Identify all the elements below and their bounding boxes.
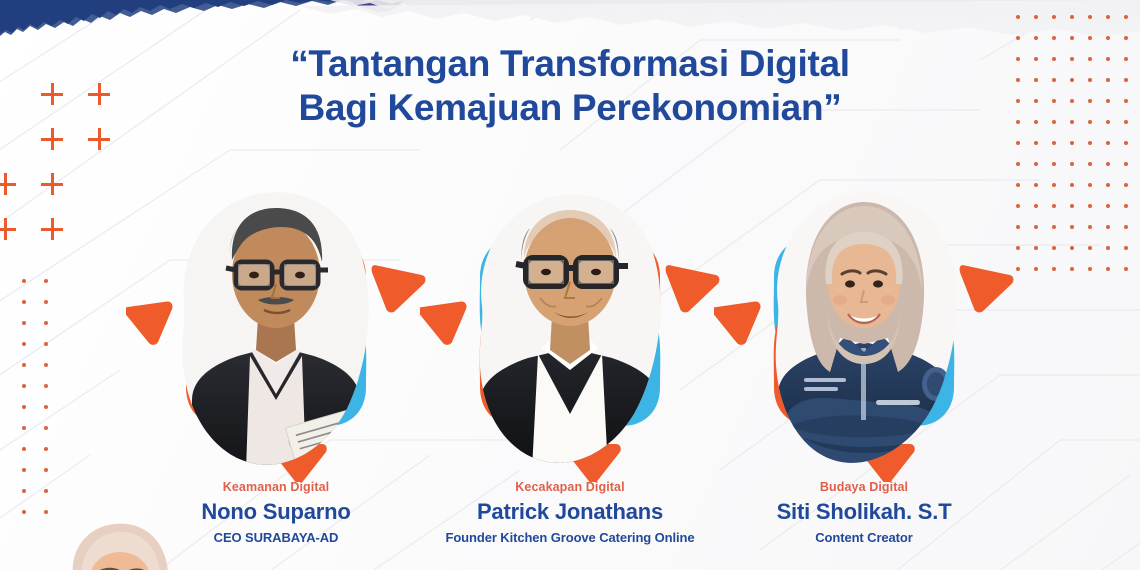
speaker-caption: Keamanan Digital Nono Suparno CEO SURABA… xyxy=(126,480,426,545)
speaker-role: Content Creator xyxy=(714,530,1014,545)
speaker-name: Nono Suparno xyxy=(126,499,426,525)
speaker-badge xyxy=(420,182,720,482)
page-title: “Tantangan Transformasi Digital Bagi Kem… xyxy=(0,42,1140,130)
title-line-2: Bagi Kemajuan Perekonomian” xyxy=(0,86,1140,130)
speaker-badge xyxy=(714,182,1014,482)
avatar xyxy=(172,188,380,470)
speaker-badge xyxy=(126,182,426,482)
speaker-name: Patrick Jonathans xyxy=(420,499,720,525)
poster-canvas: “Tantangan Transformasi Digital Bagi Kem… xyxy=(0,0,1140,570)
speaker-caption: Kecakapan Digital Patrick Jonathans Foun… xyxy=(420,480,720,545)
speaker-category: Budaya Digital xyxy=(714,480,1014,494)
title-line-1: “Tantangan Transformasi Digital xyxy=(0,42,1140,86)
speaker-category: Kecakapan Digital xyxy=(420,480,720,494)
triangle-accent-left xyxy=(420,301,471,348)
avatar xyxy=(760,188,968,470)
triangle-accent-left xyxy=(714,301,765,348)
speaker-category: Keamanan Digital xyxy=(126,480,426,494)
triangle-accent-left xyxy=(126,301,177,348)
speaker-role: Founder Kitchen Groove Catering Online xyxy=(420,530,720,545)
avatar xyxy=(466,188,674,470)
speaker-name: Siti Sholikah. S.T xyxy=(714,499,1014,525)
speaker-role: CEO SURABAYA-AD xyxy=(126,530,426,545)
speaker-caption: Budaya Digital Siti Sholikah. S.T Conten… xyxy=(714,480,1014,545)
